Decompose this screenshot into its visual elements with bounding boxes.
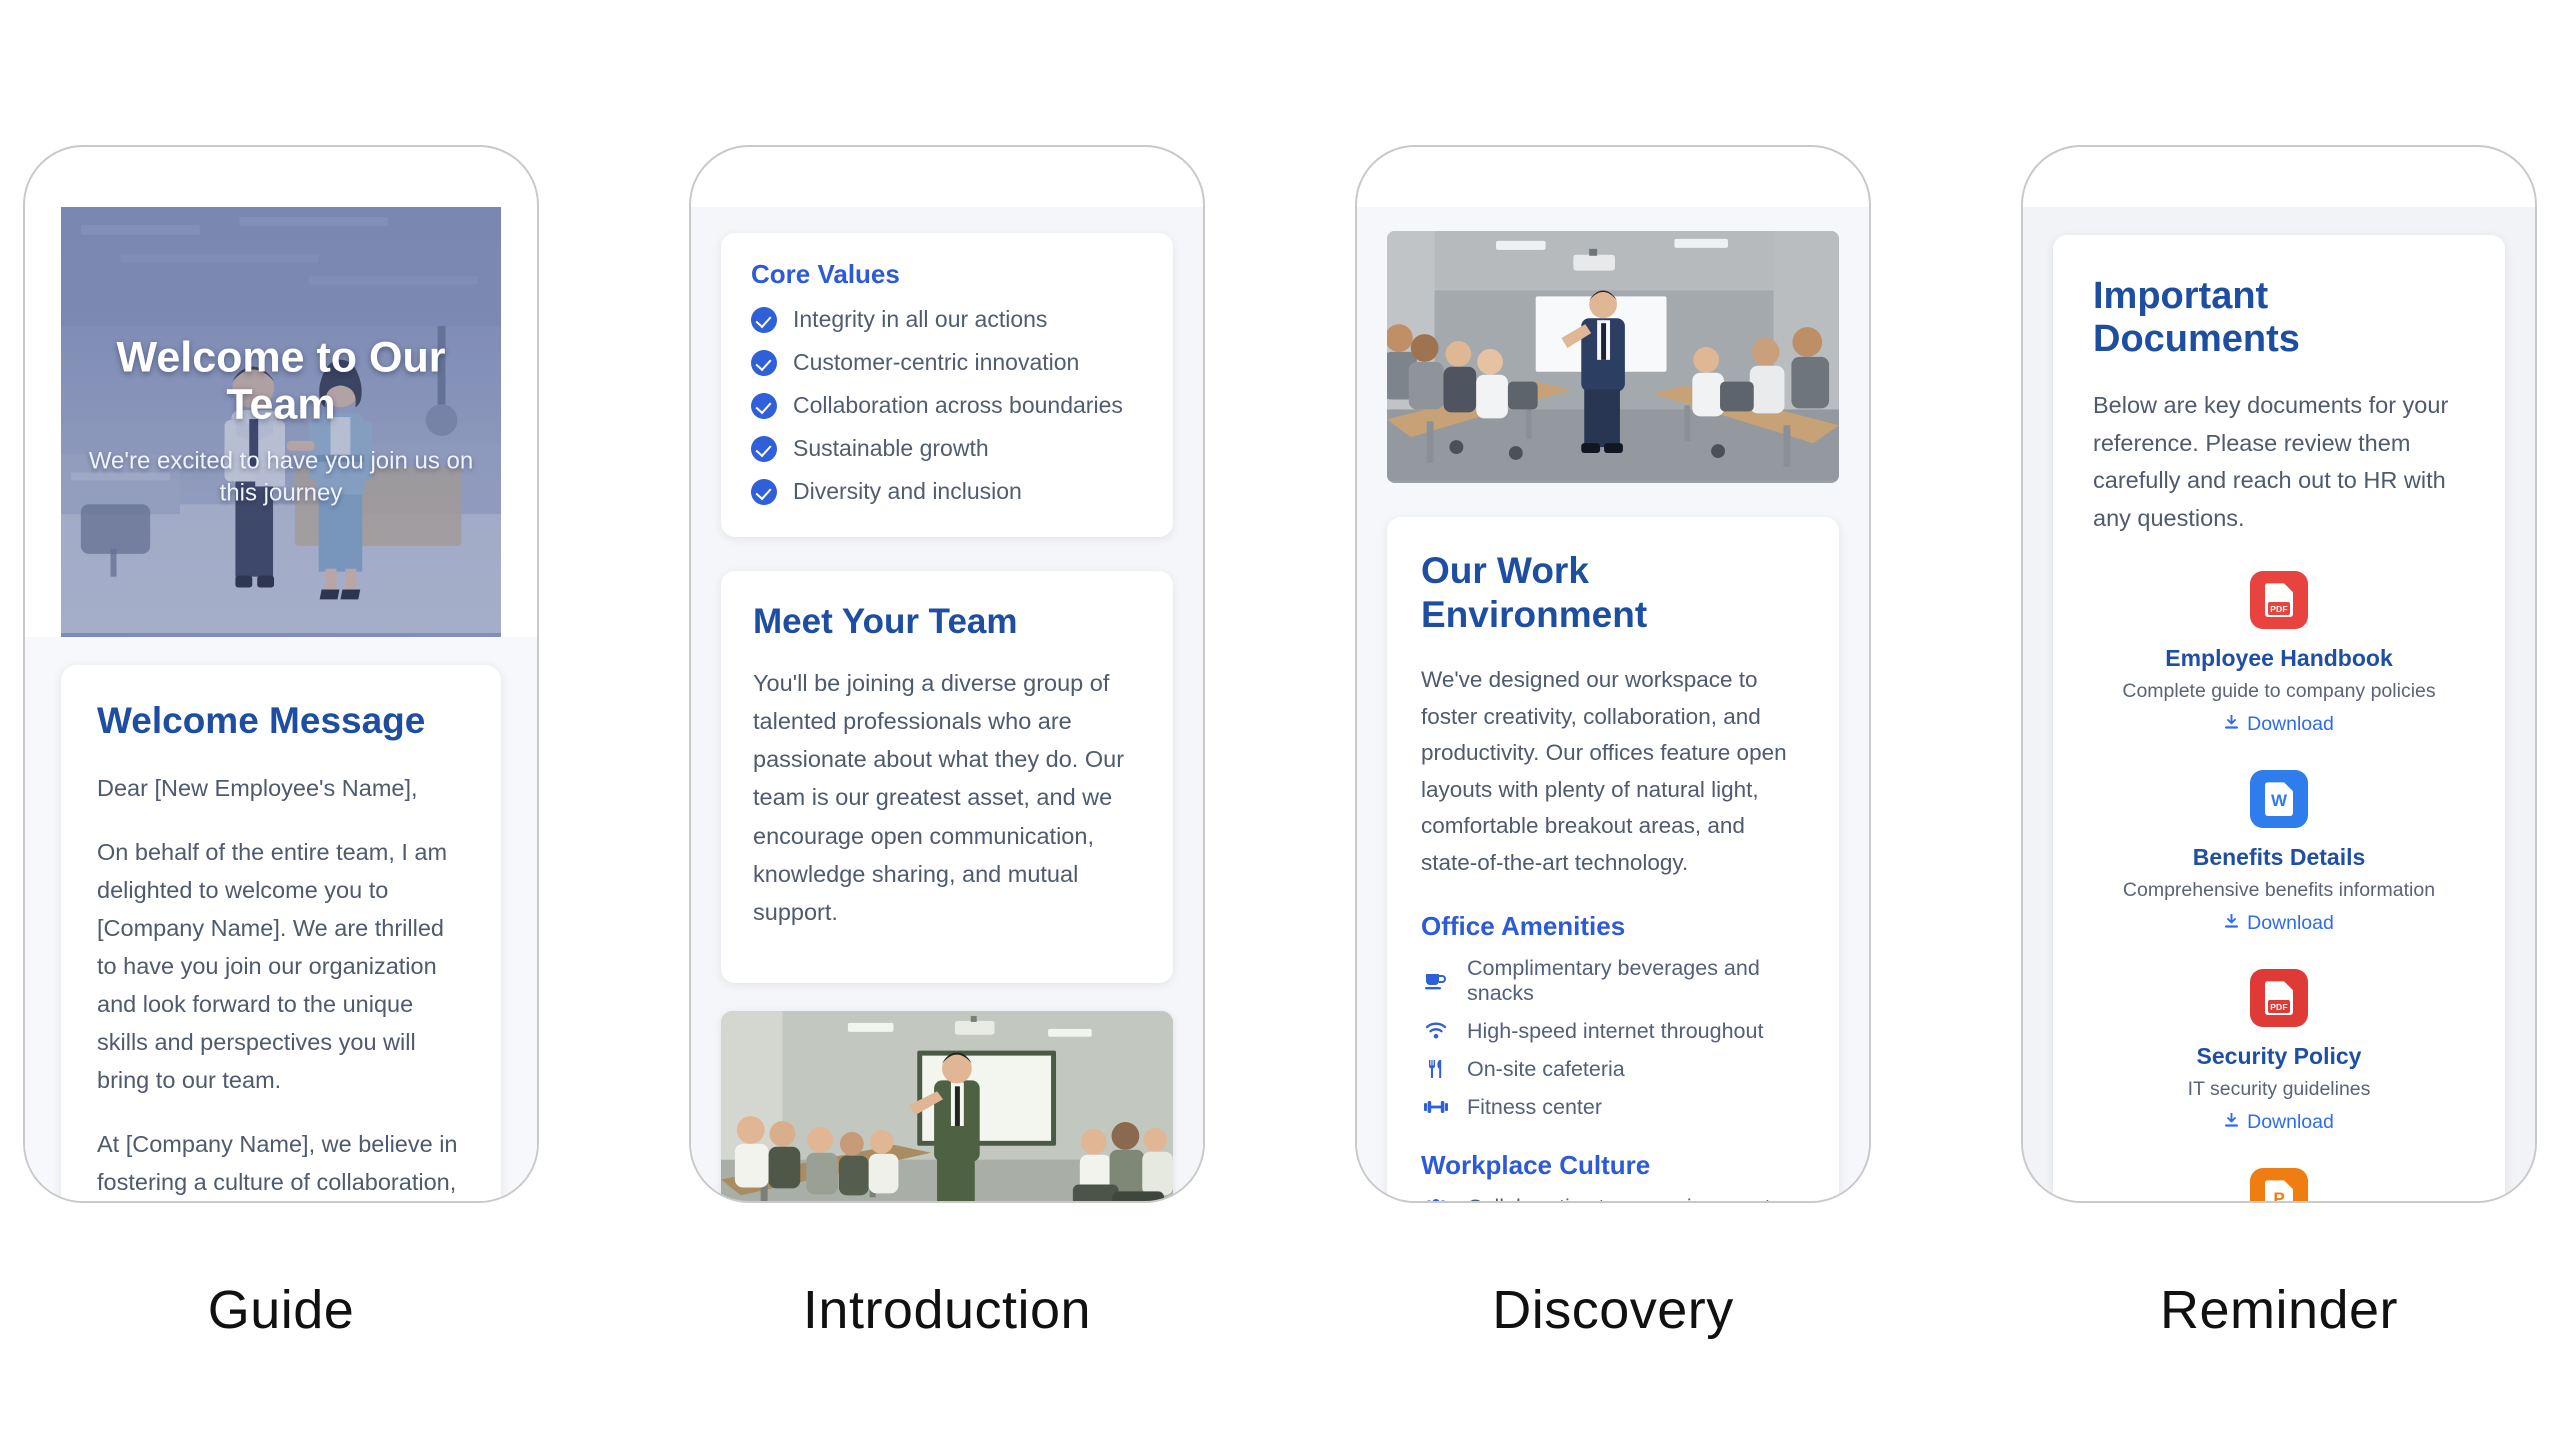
meet-team-body: You'll be joining a diverse group of tal… <box>753 664 1141 930</box>
hero-subtitle: We're excited to have you join us on thi… <box>83 445 479 510</box>
meet-team-title: Meet Your Team <box>753 601 1141 642</box>
meeting-room-image <box>721 1011 1173 1201</box>
welcome-message-card: Welcome Message Dear [New Employee's Nam… <box>61 665 501 1201</box>
pdf-tag: PDF <box>2268 602 2290 615</box>
document-name: Security Policy <box>2093 1043 2465 1070</box>
important-documents-title: Important Documents <box>2093 275 2465 361</box>
workplace-culture-title: Workplace Culture <box>1421 1150 1805 1181</box>
work-environment-body: We've designed our workspace to foster c… <box>1421 662 1805 881</box>
phone-screen-reminder: Important Documents Below are key docume… <box>2023 207 2535 1201</box>
download-label: Download <box>2247 713 2334 736</box>
check-circle-icon <box>751 307 777 333</box>
office-amenities-title: Office Amenities <box>1421 911 1805 942</box>
phone-label-guide: Guide <box>208 1279 355 1341</box>
welcome-message-title: Welcome Message <box>97 699 465 743</box>
core-value-item: Integrity in all our actions <box>751 306 1143 333</box>
document-item[interactable]: PDF Employee Handbook Complete guide to … <box>2093 571 2465 736</box>
powerpoint-letter: P <box>2265 1189 2293 1201</box>
document-item[interactable]: PDF Security Policy IT security guidelin… <box>2093 969 2465 1134</box>
meet-your-team-card: Meet Your Team You'll be joining a diver… <box>721 571 1173 983</box>
core-value-label: Customer-centric innovation <box>793 349 1079 376</box>
coffee-cup-icon <box>1421 972 1451 990</box>
phone-label-reminder: Reminder <box>2160 1279 2398 1341</box>
core-value-label: Integrity in all our actions <box>793 306 1047 333</box>
download-label: Download <box>2247 1111 2334 1134</box>
phone-frame-guide: Welcome to Our Team We're excited to hav… <box>23 145 539 1203</box>
welcome-paragraph-1: On behalf of the entire team, I am delig… <box>97 833 465 1099</box>
amenity-item: Complimentary beverages and snacks <box>1421 956 1805 1006</box>
document-description: Complete guide to company policies <box>2093 680 2465 703</box>
check-circle-icon <box>751 393 777 419</box>
phone-column-reminder: Important Documents Below are key docume… <box>2021 145 2537 1341</box>
phone-column-introduction: Core Values Integrity in all our actions… <box>689 145 1205 1341</box>
core-value-item: Collaboration across boundaries <box>751 392 1143 419</box>
download-label: Download <box>2247 912 2334 935</box>
download-link[interactable]: Download <box>2224 1111 2334 1134</box>
important-documents-lead: Below are key documents for your referen… <box>2093 387 2465 537</box>
core-value-label: Collaboration across boundaries <box>793 392 1123 419</box>
phone-screen-discovery: Our Work Environment We've designed our … <box>1357 207 1869 1201</box>
culture-item: Collaborative team environment <box>1421 1195 1805 1201</box>
utensils-icon <box>1421 1059 1451 1079</box>
word-file-icon: W <box>2250 770 2308 828</box>
amenity-item: Fitness center <box>1421 1095 1805 1120</box>
dumbbell-icon <box>1421 1099 1451 1115</box>
check-circle-icon <box>751 436 777 462</box>
phone-frame-reminder: Important Documents Below are key docume… <box>2021 145 2537 1203</box>
document-name: Employee Handbook <box>2093 645 2465 672</box>
pdf-tag: PDF <box>2268 1000 2290 1013</box>
document-item[interactable]: W Benefits Details Comprehensive benefit… <box>2093 770 2465 935</box>
phone-frame-introduction: Core Values Integrity in all our actions… <box>689 145 1205 1203</box>
amenity-item: High-speed internet throughout <box>1421 1019 1805 1044</box>
work-environment-title: Our Work Environment <box>1421 549 1805 636</box>
welcome-paragraph-2: At [Company Name], we believe in fosteri… <box>97 1125 465 1201</box>
amenity-label: On-site cafeteria <box>1467 1057 1625 1082</box>
welcome-hero-banner: Welcome to Our Team We're excited to hav… <box>61 207 501 637</box>
conference-room-image <box>1387 231 1839 483</box>
phone-label-introduction: Introduction <box>803 1279 1091 1341</box>
core-value-item: Customer-centric innovation <box>751 349 1143 376</box>
download-link[interactable]: Download <box>2224 912 2334 935</box>
wifi-icon <box>1421 1022 1451 1040</box>
document-description: IT security guidelines <box>2093 1078 2465 1101</box>
meeting-illustration <box>721 1011 1173 1201</box>
people-group-icon <box>1421 1199 1451 1201</box>
culture-label: Collaborative team environment <box>1467 1195 1771 1201</box>
core-values-card: Core Values Integrity in all our actions… <box>721 233 1173 537</box>
core-value-item: Diversity and inclusion <box>751 478 1143 505</box>
pdf-file-icon: PDF <box>2250 571 2308 629</box>
amenity-label: High-speed internet throughout <box>1467 1019 1763 1044</box>
amenity-item: On-site cafeteria <box>1421 1057 1805 1082</box>
welcome-salutation: Dear [New Employee's Name], <box>97 769 465 807</box>
important-documents-card: Important Documents Below are key docume… <box>2053 235 2505 1201</box>
core-value-item: Sustainable growth <box>751 435 1143 462</box>
phone-label-discovery: Discovery <box>1492 1279 1734 1341</box>
conference-illustration <box>1387 231 1839 481</box>
welcome-card-wrapper: Welcome Message Dear [New Employee's Nam… <box>25 637 537 1201</box>
phone-frame-discovery: Our Work Environment We've designed our … <box>1355 145 1871 1203</box>
phone-column-discovery: Our Work Environment We've designed our … <box>1355 145 1871 1341</box>
pdf-file-icon: PDF <box>2250 969 2308 1027</box>
amenity-label: Fitness center <box>1467 1095 1602 1120</box>
phone-mockup-row: Welcome to Our Team We're excited to hav… <box>0 0 2560 1440</box>
powerpoint-file-icon: P <box>2250 1168 2308 1201</box>
amenity-label: Complimentary beverages and snacks <box>1467 956 1805 1006</box>
word-letter: W <box>2265 791 2293 811</box>
core-value-label: Sustainable growth <box>793 435 989 462</box>
core-values-title: Core Values <box>751 259 1143 290</box>
core-value-label: Diversity and inclusion <box>793 478 1022 505</box>
check-circle-icon <box>751 479 777 505</box>
download-icon <box>2224 713 2239 736</box>
download-icon <box>2224 1111 2239 1134</box>
download-link[interactable]: Download <box>2224 713 2334 736</box>
document-description: Comprehensive benefits information <box>2093 879 2465 902</box>
check-circle-icon <box>751 350 777 376</box>
phone-column-guide: Welcome to Our Team We're excited to hav… <box>23 145 539 1341</box>
hero-title: Welcome to Our Team <box>83 334 479 429</box>
phone-screen-introduction: Core Values Integrity in all our actions… <box>691 207 1203 1201</box>
download-icon <box>2224 912 2239 935</box>
work-environment-card: Our Work Environment We've designed our … <box>1387 517 1839 1201</box>
document-name: Benefits Details <box>2093 844 2465 871</box>
document-item[interactable]: P Org Chart Company structure overview D… <box>2093 1168 2465 1201</box>
hero-text-block: Welcome to Our Team We're excited to hav… <box>61 334 501 509</box>
phone-screen-guide: Welcome to Our Team We're excited to hav… <box>25 207 537 1201</box>
